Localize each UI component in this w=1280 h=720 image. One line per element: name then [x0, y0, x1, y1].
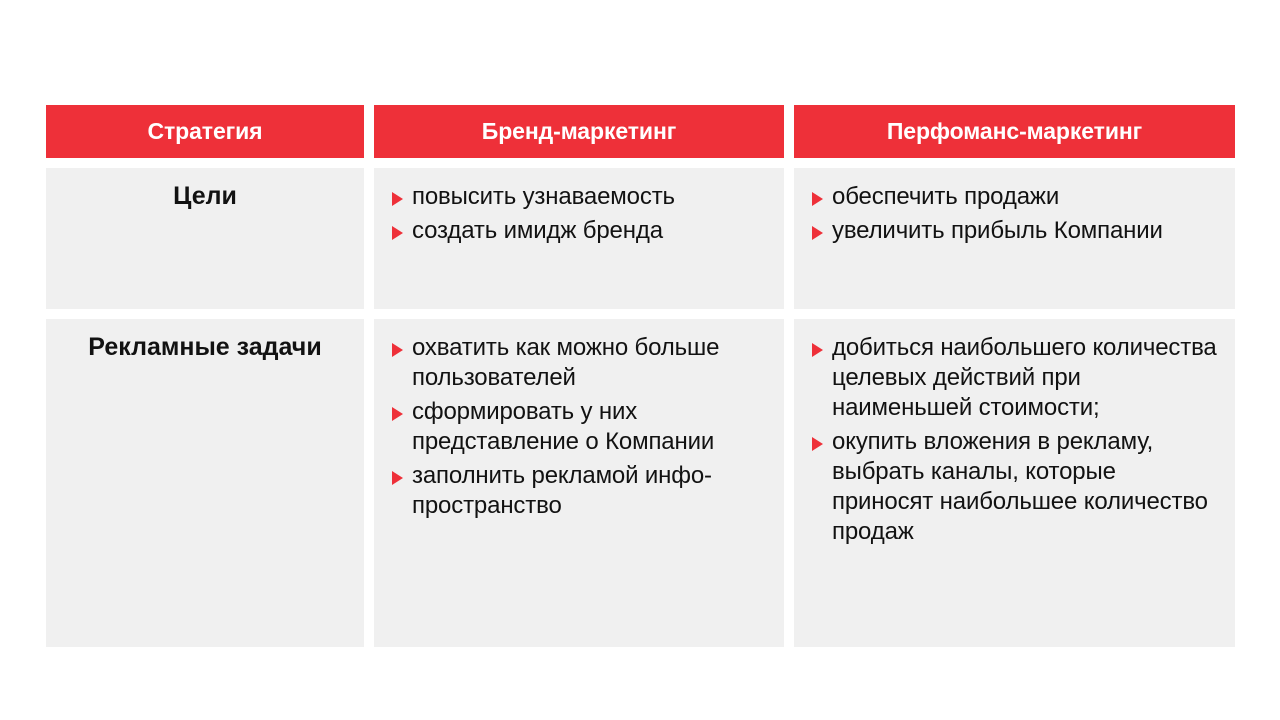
header-label: Бренд-маркетинг [482, 118, 676, 144]
list-item: сформировать у них представление о Компа… [390, 397, 772, 457]
triangle-bullet-icon [392, 226, 403, 240]
bullet-list: обеспечить продажи увеличить прибыль Ком… [810, 182, 1223, 246]
list-item-text: сформировать у них представление о Компа… [412, 397, 772, 457]
list-item: окупить вложения в рекламу, выбрать кана… [810, 427, 1223, 547]
list-item: обеспечить продажи [810, 182, 1223, 212]
triangle-bullet-icon [812, 343, 823, 357]
list-item: охватить как можно больше пользователей [390, 333, 772, 393]
table-header-strategy: Стратегия [46, 105, 364, 158]
list-item: увеличить прибыль Компании [810, 216, 1223, 246]
triangle-bullet-icon [392, 343, 403, 357]
list-item-text: окупить вложения в рекламу, выбрать кана… [832, 427, 1223, 547]
triangle-bullet-icon [392, 471, 403, 485]
row-label-text: Рекламные задачи [88, 332, 321, 362]
triangle-bullet-icon [812, 192, 823, 206]
bullet-list: повысить узнаваемость создать имидж брен… [390, 182, 772, 246]
slide-canvas: Стратегия Бренд-маркетинг Перфоманс-марк… [0, 0, 1280, 720]
list-item-text: охватить как можно больше пользователей [412, 333, 772, 393]
cell-goals-performance: обеспечить продажи увеличить прибыль Ком… [794, 168, 1235, 309]
table-header-brand-marketing: Бренд-маркетинг [374, 105, 784, 158]
bullet-list: охватить как можно больше пользователей … [390, 333, 772, 521]
list-item: добиться наибольшего количества целевых … [810, 333, 1223, 423]
triangle-bullet-icon [812, 226, 823, 240]
list-item-text: обеспечить продажи [832, 182, 1223, 212]
list-item-text: повысить узнаваемость [412, 182, 772, 212]
list-item-text: заполнить рекламой инфо-пространство [412, 461, 772, 521]
row-label-goals: Цели [46, 168, 364, 309]
header-label: Стратегия [147, 118, 262, 144]
cell-ad-tasks-performance: добиться наибольшего количества целевых … [794, 319, 1235, 647]
cell-ad-tasks-brand: охватить как можно больше пользователей … [374, 319, 784, 647]
triangle-bullet-icon [392, 407, 403, 421]
comparison-table: Стратегия Бренд-маркетинг Перфоманс-марк… [46, 105, 1243, 647]
cell-goals-brand: повысить узнаваемость создать имидж брен… [374, 168, 784, 309]
list-item-text: создать имидж бренда [412, 216, 772, 246]
list-item-text: добиться наибольшего количества целевых … [832, 333, 1223, 423]
header-label: Перфоманс-маркетинг [887, 118, 1142, 144]
list-item: повысить узнаваемость [390, 182, 772, 212]
table-header-performance-marketing: Перфоманс-маркетинг [794, 105, 1235, 158]
triangle-bullet-icon [392, 192, 403, 206]
list-item: создать имидж бренда [390, 216, 772, 246]
list-item-text: увеличить прибыль Компании [832, 216, 1223, 246]
list-item: заполнить рекламой инфо-пространство [390, 461, 772, 521]
row-label-text: Цели [173, 181, 237, 211]
bullet-list: добиться наибольшего количества целевых … [810, 333, 1223, 547]
row-label-ad-tasks: Рекламные задачи [46, 319, 364, 647]
triangle-bullet-icon [812, 437, 823, 451]
